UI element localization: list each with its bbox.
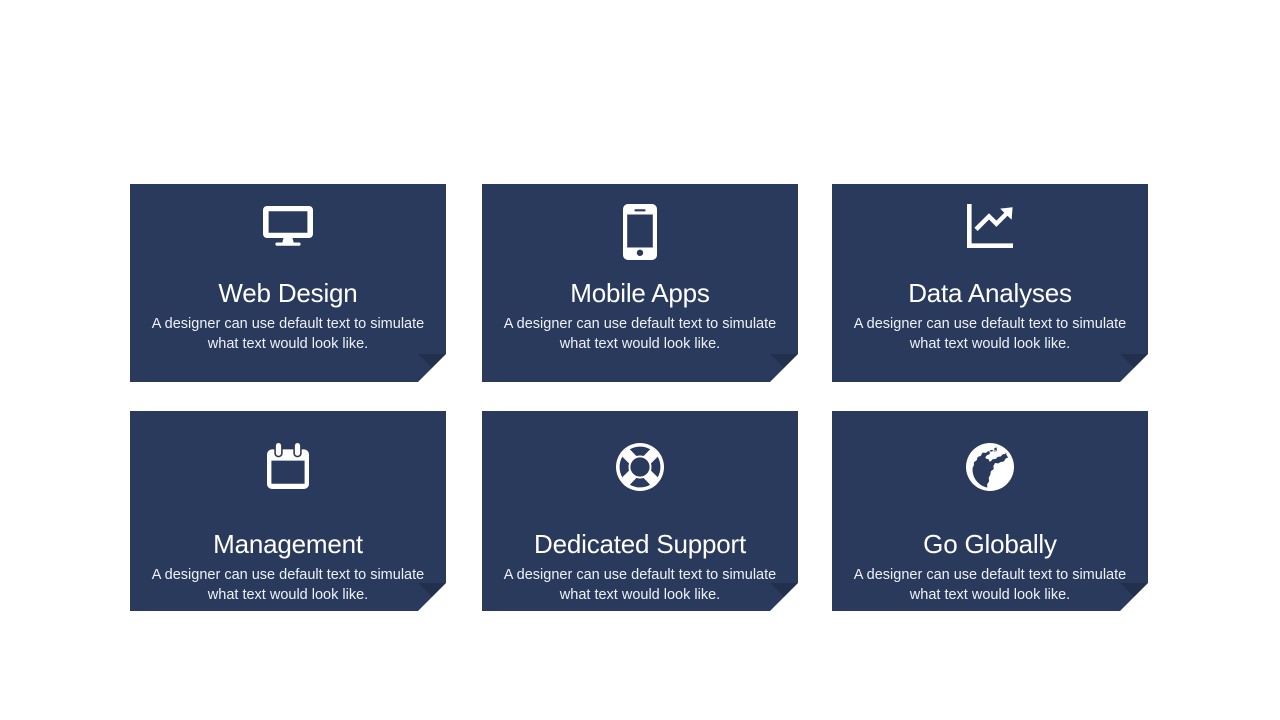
card-title: Mobile Apps <box>482 278 798 309</box>
service-card-web-design[interactable]: Web Design A designer can use default te… <box>130 184 446 382</box>
service-card-dedicated-support[interactable]: Dedicated Support A designer can use def… <box>482 411 798 611</box>
card-title: Go Globally <box>832 529 1148 560</box>
card-body-text: A designer can use default text to simul… <box>846 566 1134 605</box>
card-title: Dedicated Support <box>482 529 798 560</box>
card-title: Data Analyses <box>832 278 1148 309</box>
card-body-text: A designer can use default text to simul… <box>496 566 784 605</box>
card-title: Web Design <box>130 278 446 309</box>
service-card-data-analyses[interactable]: Data Analyses A designer can use default… <box>832 184 1148 382</box>
card-body-text: A designer can use default text to simul… <box>846 315 1134 354</box>
mobile-phone-icon <box>482 204 798 260</box>
calendar-icon <box>130 443 446 495</box>
slide-canvas: Web Design A designer can use default te… <box>0 0 1280 720</box>
service-card-management[interactable]: Management A designer can use default te… <box>130 411 446 611</box>
card-body-text: A designer can use default text to simul… <box>144 566 432 605</box>
globe-americas-icon <box>832 443 1148 495</box>
line-chart-growth-icon <box>832 204 1148 260</box>
service-card-mobile-apps[interactable]: Mobile Apps A designer can use default t… <box>482 184 798 382</box>
card-title: Management <box>130 529 446 560</box>
service-card-go-globally[interactable]: Go Globally A designer can use default t… <box>832 411 1148 611</box>
card-body-text: A designer can use default text to simul… <box>496 315 784 354</box>
services-card-grid: Web Design A designer can use default te… <box>130 184 1148 611</box>
card-body-text: A designer can use default text to simul… <box>144 315 432 354</box>
lifebuoy-support-icon <box>482 443 798 495</box>
desktop-monitor-icon <box>130 204 446 260</box>
